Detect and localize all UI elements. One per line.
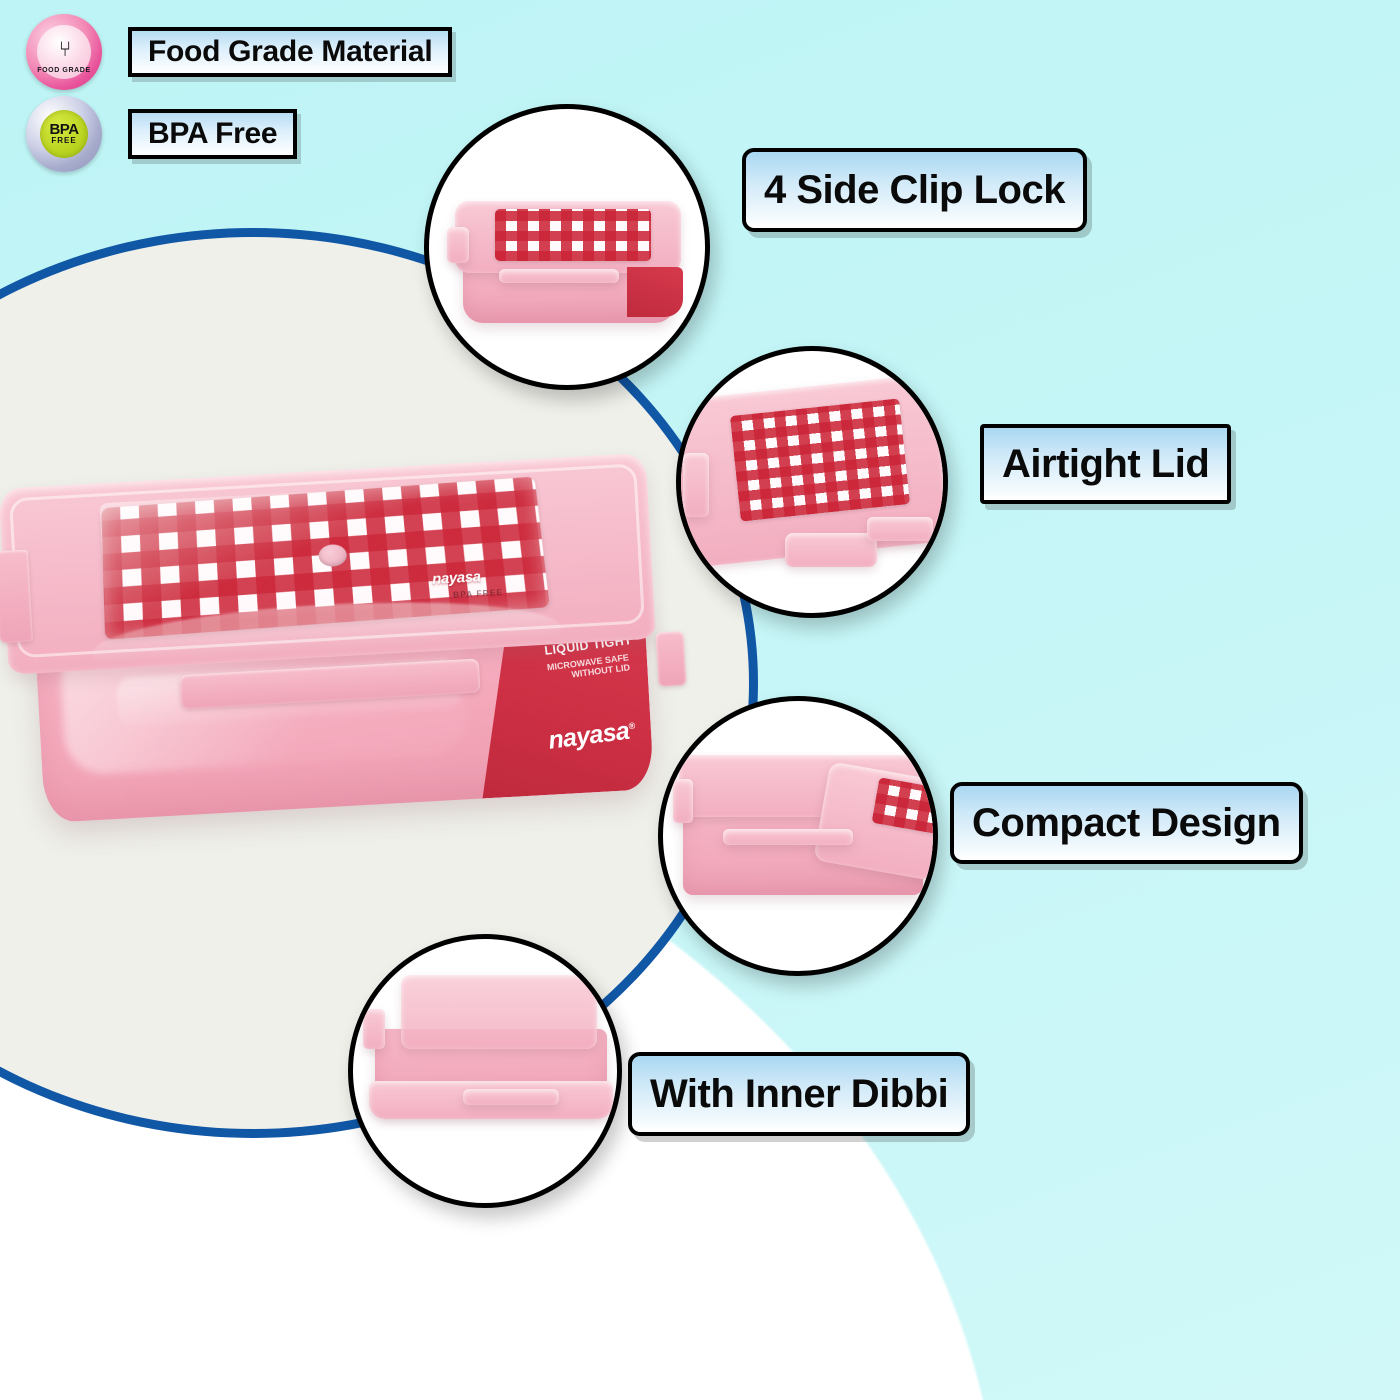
badge-row-bpa-free: BPA FREE BPA Free xyxy=(26,96,297,172)
bpa-free-seal-icon: BPA FREE xyxy=(26,96,102,172)
thumbnail-clip-lock xyxy=(424,104,710,390)
feature-pill-clip-lock[interactable]: 4 Side Clip Lock xyxy=(742,148,1087,232)
feature-label-compact-design: Compact Design xyxy=(972,801,1281,846)
badge-label-bpa-free[interactable]: BPA Free xyxy=(128,109,297,159)
infographic-canvas: LIQUID TIGHT MICROWAVE SAFE WITHOUT LID … xyxy=(0,0,1400,1400)
brand-text: nayasa xyxy=(546,717,630,755)
product-lid: nayasa BPA FREE xyxy=(0,453,656,675)
thumb1-gingham xyxy=(495,209,651,261)
thumb1-red-label xyxy=(627,267,683,317)
feature-label-clip-lock: 4 Side Clip Lock xyxy=(764,168,1065,213)
thumb3-clip-front xyxy=(723,829,853,845)
clip-lock-right xyxy=(656,631,687,686)
bpa-text-bottom: FREE xyxy=(51,136,76,145)
thumb2-gingham xyxy=(730,398,910,521)
clip-lock-left xyxy=(0,549,33,643)
lid-brand-logo: nayasa xyxy=(432,568,481,588)
food-grade-seal-inner: ⑂ FOOD GRADE xyxy=(37,25,91,79)
thumb4-clip-front xyxy=(463,1089,559,1105)
badge-text-bpa-free: BPA Free xyxy=(148,117,277,150)
food-grade-ring-text: FOOD GRADE xyxy=(37,67,91,74)
feature-pill-airtight-lid[interactable]: Airtight Lid xyxy=(980,424,1231,504)
thumb2-clip-front xyxy=(785,533,877,567)
thumb2-clip-left xyxy=(683,453,709,517)
cutlery-icon: ⑂ xyxy=(59,39,70,60)
thumb1-clip-front xyxy=(499,269,619,283)
badge-text-food-grade: Food Grade Material xyxy=(148,35,432,68)
thumb2-clip-right xyxy=(867,517,933,541)
badge-label-food-grade[interactable]: Food Grade Material xyxy=(128,27,452,77)
thumbnail-compact-design xyxy=(658,696,938,976)
food-grade-seal-icon: ⑂ FOOD GRADE xyxy=(26,14,102,90)
thumb1-clip-left xyxy=(447,227,469,263)
brand-registered-mark: ® xyxy=(628,721,635,732)
thumbnail-inner-dibbi xyxy=(348,934,622,1208)
main-product-image: LIQUID TIGHT MICROWAVE SAFE WITHOUT LID … xyxy=(0,452,690,849)
thumb4-inner-dibbi xyxy=(401,975,597,1049)
label-microwave-safe: MICROWAVE SAFE WITHOUT LID xyxy=(546,652,630,682)
feature-label-inner-dibbi: With Inner Dibbi xyxy=(650,1072,948,1117)
bpa-free-seal-inner: BPA FREE xyxy=(40,110,88,158)
thumb3-clip-left xyxy=(673,779,693,823)
thumbnail-airtight-lid xyxy=(676,346,948,618)
thumb4-clip-left xyxy=(363,1009,385,1049)
bpa-text-top: BPA xyxy=(49,123,78,136)
product-brand-logo: nayasa® xyxy=(546,716,636,756)
feature-label-airtight-lid: Airtight Lid xyxy=(1002,442,1209,487)
badge-row-food-grade: ⑂ FOOD GRADE Food Grade Material xyxy=(26,14,452,90)
feature-pill-inner-dibbi[interactable]: With Inner Dibbi xyxy=(628,1052,970,1136)
feature-pill-compact-design[interactable]: Compact Design xyxy=(950,782,1303,864)
